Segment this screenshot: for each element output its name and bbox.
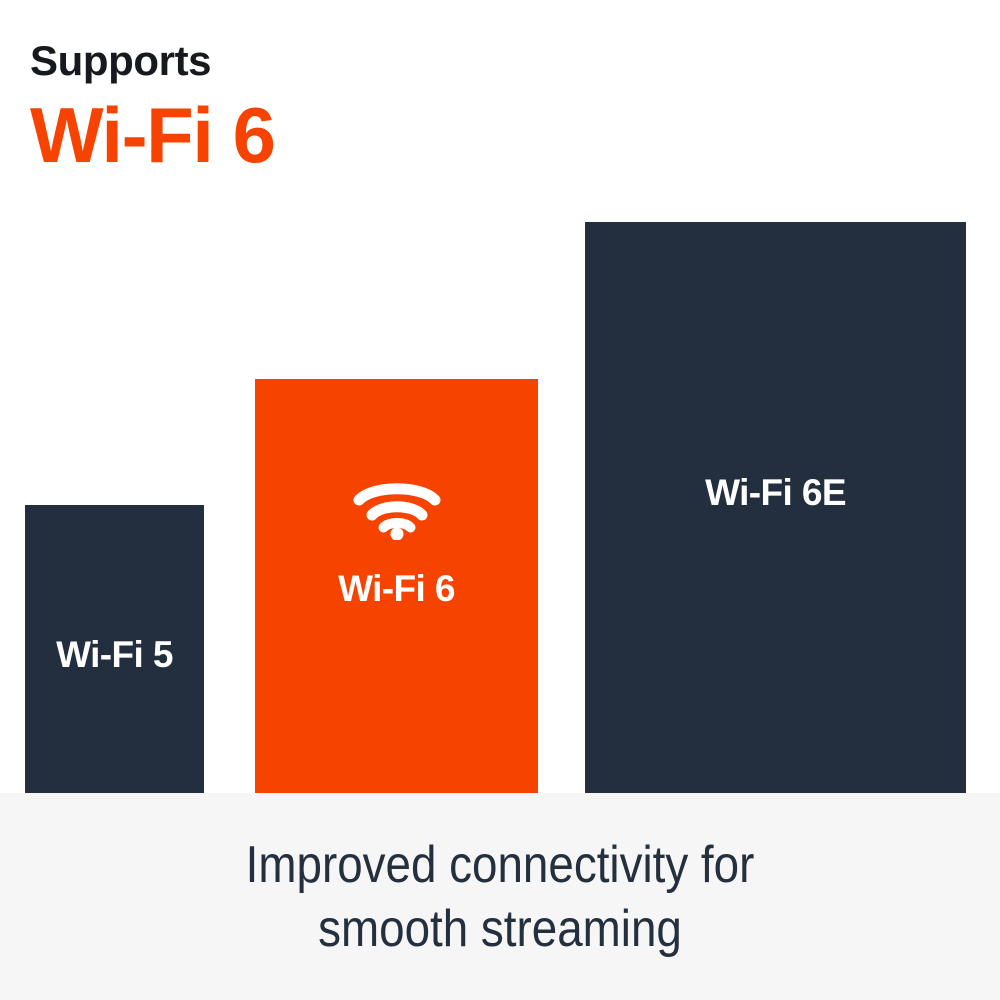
infographic-canvas: Supports Wi-Fi 6 Wi-Fi 5 Wi-Fi 6 [0, 0, 1000, 1000]
wifi-signal-icon [353, 482, 441, 540]
bar-chart: Wi-Fi 5 Wi-Fi 6 Wi-Fi 6E [0, 0, 1000, 793]
bar-label-wifi-6e: Wi-Fi 6E [705, 472, 846, 514]
bar-label-wifi-5: Wi-Fi 5 [56, 634, 173, 676]
caption-text: Improved connectivity for smooth streami… [210, 833, 789, 961]
bar-wifi-5: Wi-Fi 5 [25, 505, 204, 793]
bar-wifi-6: Wi-Fi 6 [255, 379, 538, 793]
bar-label-wifi-6: Wi-Fi 6 [338, 568, 455, 610]
caption-band: Improved connectivity for smooth streami… [0, 793, 1000, 1000]
bar-wifi-6e: Wi-Fi 6E [585, 222, 966, 793]
